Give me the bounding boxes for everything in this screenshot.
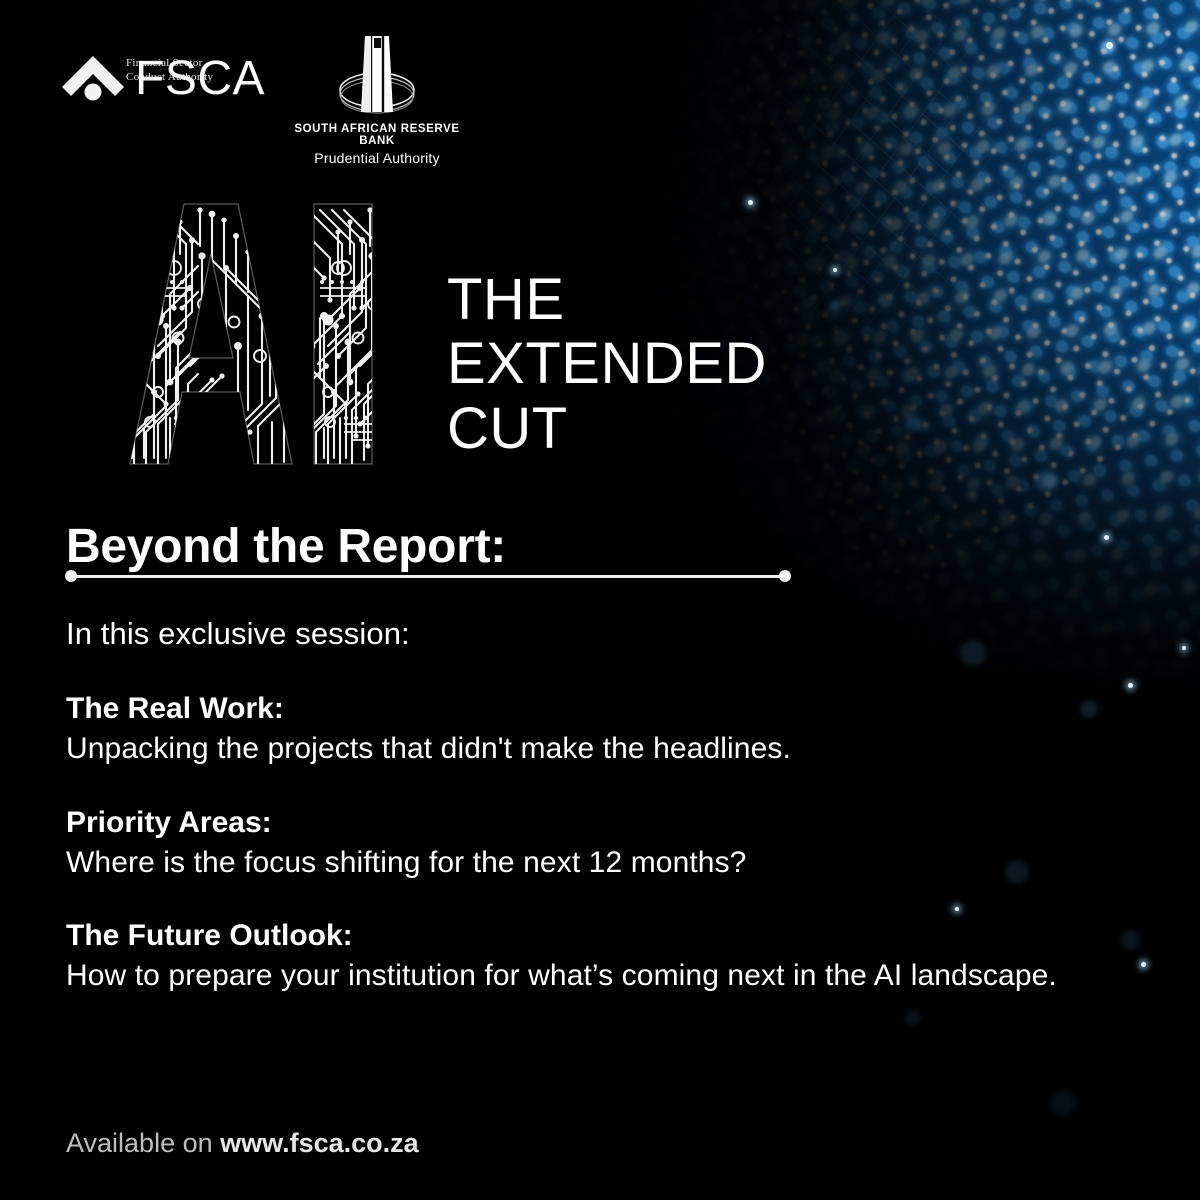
bokeh-dot [1035, 470, 1057, 492]
session-section-heading: The Real Work: [66, 692, 1076, 726]
section-divider [65, 570, 791, 582]
session-section-text: Unpacking the projects that didn't make … [66, 730, 1076, 768]
logo-bar: FSCA Financial Sector Conduct Authority … [0, 0, 1200, 170]
session-lead: In this exclusive session: [66, 616, 1076, 652]
sarb-monolith-logo-icon [282, 28, 472, 120]
glow-node [1104, 535, 1109, 540]
divider-dot-right-icon [779, 570, 791, 582]
sarb-logo: SOUTH AFRICAN RESERVE BANK Prudential Au… [282, 28, 472, 166]
session-section: The Real Work: Unpacking the projects th… [66, 692, 1076, 768]
sarb-division: Prudential Authority [282, 150, 472, 166]
ai-circuit-letters-icon [62, 196, 407, 466]
fsca-chevron-logo-icon [60, 52, 126, 106]
bokeh-dot [830, 300, 840, 310]
session-details: In this exclusive session: The Real Work… [66, 616, 1076, 1033]
session-section-heading: Priority Areas: [66, 806, 1076, 840]
divider-line [70, 575, 786, 578]
session-section-heading: The Future Outlook: [66, 919, 1076, 953]
session-section: Priority Areas: Where is the focus shift… [66, 806, 1076, 882]
hero-subtitle-line2: EXTENDED [447, 332, 767, 396]
hero-title-block: THE EXTENDED CUT [62, 196, 802, 471]
glow-node [833, 268, 837, 272]
bokeh-dot [905, 415, 921, 431]
page-title: Beyond the Report: [66, 519, 506, 574]
session-section-text: Where is the focus shifting for the next… [66, 844, 1076, 882]
glow-node [1128, 683, 1133, 688]
fsca-tagline-line1: Financial Sector [126, 56, 213, 70]
footer-availability: Available on www.fsca.co.za [66, 1128, 419, 1159]
bokeh-dot [1080, 700, 1098, 718]
hero-subtitle-line1: THE [447, 268, 767, 332]
hero-subtitle-line3: CUT [447, 397, 767, 461]
glow-node [1182, 646, 1186, 650]
session-section-text: How to prepare your institution for what… [66, 957, 1076, 995]
glow-node [1141, 962, 1146, 967]
sarb-name: SOUTH AFRICAN RESERVE BANK [282, 123, 472, 147]
bokeh-dot [1120, 930, 1140, 950]
footer-prefix: Available on [66, 1128, 220, 1158]
fsca-tagline-line2: Conduct Authority [126, 70, 213, 84]
fsca-tagline: Financial Sector Conduct Authority [126, 56, 213, 84]
footer-url[interactable]: www.fsca.co.za [220, 1128, 419, 1158]
poster-canvas: FSCA Financial Sector Conduct Authority … [0, 0, 1200, 1200]
bokeh-dot [1050, 1090, 1076, 1116]
session-section: The Future Outlook: How to prepare your … [66, 919, 1076, 995]
hero-subtitle: THE EXTENDED CUT [447, 268, 767, 461]
